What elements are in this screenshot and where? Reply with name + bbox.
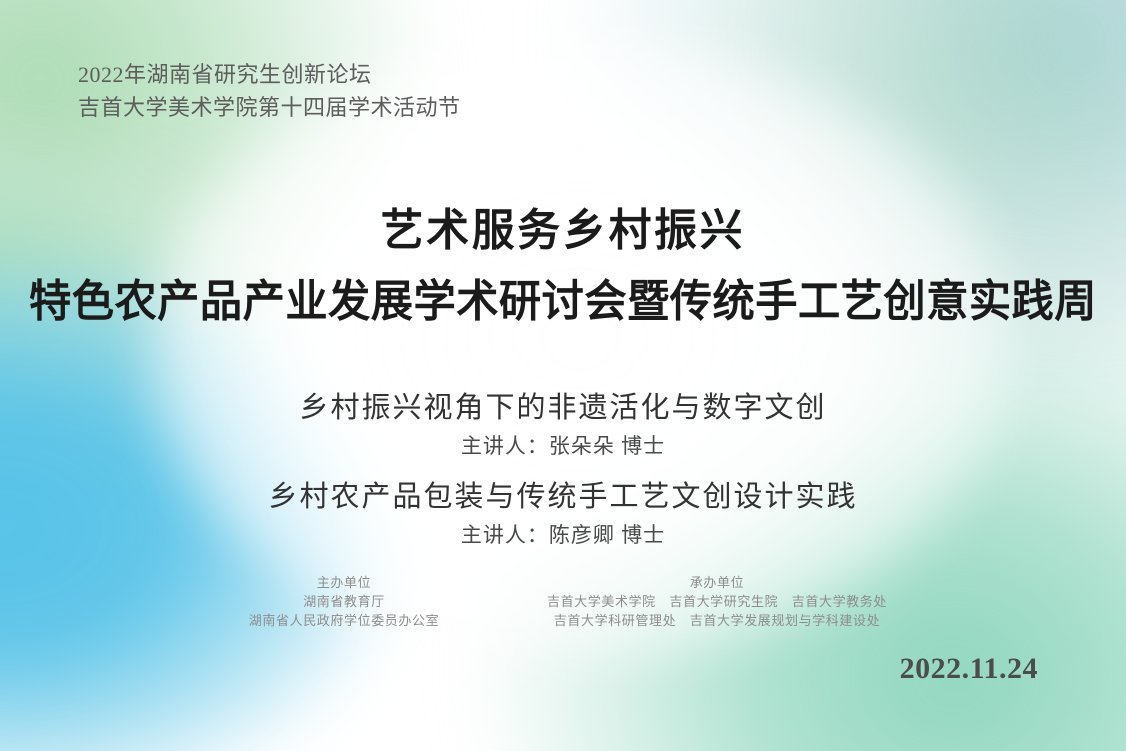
poster-content: 2022年湖南省研究生创新论坛 吉首大学美术学院第十四届学术活动节 艺术服务乡村… <box>0 0 1126 751</box>
host-organizer-heading: 主办单位 <box>219 573 469 592</box>
host-organizer-line: 湖南省教育厅 <box>219 592 469 611</box>
host-organizer-line: 湖南省人民政府学位委员办公室 <box>219 611 469 630</box>
page-title-line-1: 艺术服务乡村振兴 <box>17 204 1109 258</box>
talk-speaker: 主讲人：张朵朵 博士 <box>0 431 1126 461</box>
forum-header: 2022年湖南省研究生创新论坛 吉首大学美术学院第十四届学术活动节 <box>78 58 461 124</box>
co-organizer-line: 吉首大学美术学院 吉首大学研究生院 吉首大学教务处 <box>527 592 907 611</box>
event-date: 2022.11.24 <box>900 652 1038 686</box>
talk-item: 乡村振兴视角下的非遗活化与数字文创 主讲人：张朵朵 博士 <box>0 388 1126 461</box>
talk-title: 乡村农产品包装与传统手工艺文创设计实践 <box>0 477 1126 517</box>
forum-header-line-2: 吉首大学美术学院第十四届学术活动节 <box>78 91 461 124</box>
page-title: 艺术服务乡村振兴 特色农产品产业发展学术研讨会暨传统手工艺创意实践周 <box>0 204 1126 330</box>
host-organizer-column: 主办单位 湖南省教育厅 湖南省人民政府学位委员办公室 <box>219 573 469 630</box>
poster-canvas: 2022年湖南省研究生创新论坛 吉首大学美术学院第十四届学术活动节 艺术服务乡村… <box>0 0 1126 751</box>
co-organizer-heading: 承办单位 <box>527 573 907 592</box>
talk-speaker: 主讲人：陈彦卿 博士 <box>0 520 1126 550</box>
page-title-line-2: 特色农产品产业发展学术研讨会暨传统手工艺创意实践周 <box>23 274 1104 330</box>
forum-header-line-1: 2022年湖南省研究生创新论坛 <box>78 58 461 91</box>
talk-item: 乡村农产品包装与传统手工艺文创设计实践 主讲人：陈彦卿 博士 <box>0 477 1126 550</box>
talk-list: 乡村振兴视角下的非遗活化与数字文创 主讲人：张朵朵 博士 乡村农产品包装与传统手… <box>0 388 1126 550</box>
co-organizer-line: 吉首大学科研管理处 吉首大学发展规划与学科建设处 <box>527 611 907 630</box>
talk-title: 乡村振兴视角下的非遗活化与数字文创 <box>0 388 1126 428</box>
organizers-footer: 主办单位 湖南省教育厅 湖南省人民政府学位委员办公室 承办单位 吉首大学美术学院… <box>0 573 1126 630</box>
co-organizer-column: 承办单位 吉首大学美术学院 吉首大学研究生院 吉首大学教务处 吉首大学科研管理处… <box>527 573 907 630</box>
